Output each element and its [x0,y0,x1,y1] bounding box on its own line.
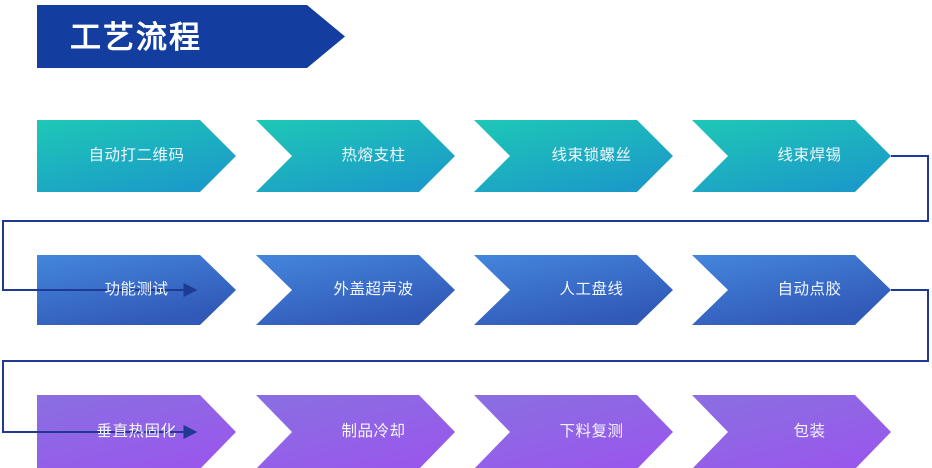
page-title: 工艺流程 [70,12,300,64]
step-label-r3c4: 包装 [728,397,891,467]
step-label-r3c1: 垂直热固化 [37,397,236,467]
step-label-r1c2: 热熔支柱 [292,120,455,192]
step-label-r2c1: 功能测试 [37,255,236,325]
step-label-r1c3: 线束锁螺丝 [510,120,673,192]
step-label-r2c4: 自动点胶 [728,255,891,325]
step-label-r1c4: 线束焊锡 [728,120,891,192]
step-label-r2c3: 人工盘线 [510,255,673,325]
step-label-r1c1: 自动打二维码 [37,120,236,192]
step-label-r2c2: 外盖超声波 [292,255,455,325]
step-label-r3c2: 制品冷却 [292,397,455,467]
flowchart-canvas: 工艺流程 自动打二维码 热熔支柱 线束锁螺丝 线束焊锡 功能测试 外盖超声波 人… [0,0,932,468]
step-label-r3c3: 下料复测 [510,397,673,467]
